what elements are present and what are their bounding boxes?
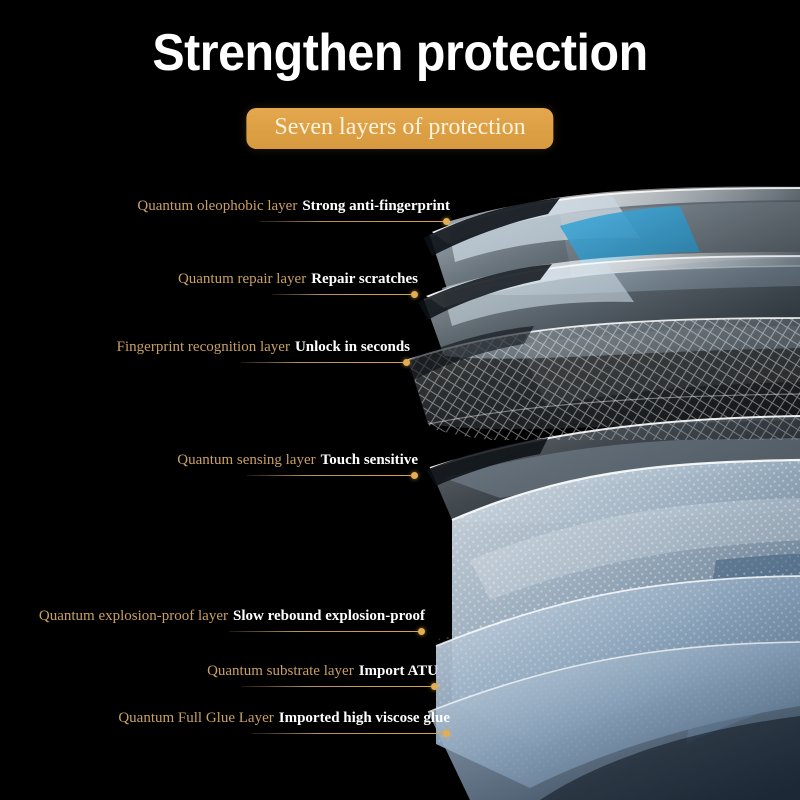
callout-text: Quantum repair layerRepair scratches bbox=[178, 271, 418, 287]
layer-description: Repair scratches bbox=[311, 271, 418, 287]
callout-dot bbox=[418, 628, 425, 635]
callout-text: Quantum oleophobic layerStrong anti-fing… bbox=[137, 198, 450, 214]
callout-leader-line bbox=[117, 358, 410, 367]
callout-leader-line bbox=[177, 471, 418, 480]
layer-description: Imported high viscose glue bbox=[279, 710, 450, 726]
layer-4-sensing-sheet bbox=[426, 416, 800, 524]
callout-dot bbox=[443, 218, 450, 225]
callout-quantum-repair-layer[interactable]: Quantum repair layerRepair scratches bbox=[178, 271, 418, 299]
callout-leader-line bbox=[118, 729, 450, 738]
layer-name: Quantum explosion-proof layer bbox=[39, 608, 228, 624]
layer-description: Slow rebound explosion-proof bbox=[233, 608, 425, 624]
callout-quantum-explosion-proof-layer[interactable]: Quantum explosion-proof layerSlow reboun… bbox=[39, 608, 425, 636]
layer-2-repair-sheet bbox=[418, 252, 800, 359]
layer-name: Fingerprint recognition layer bbox=[117, 339, 290, 355]
layer-1-oleophobic-sheet bbox=[424, 186, 800, 295]
callout-text: Quantum explosion-proof layerSlow reboun… bbox=[39, 608, 425, 624]
subtitle-badge: Seven layers of protection bbox=[246, 108, 553, 149]
callout-dot bbox=[431, 683, 438, 690]
callout-dot bbox=[403, 359, 410, 366]
callout-leader-line bbox=[207, 682, 438, 691]
callout-text: Quantum substrate layerImport ATU bbox=[207, 663, 438, 679]
layer-name: Quantum sensing layer bbox=[177, 452, 315, 468]
layer-name: Quantum Full Glue Layer bbox=[118, 710, 273, 726]
callout-quantum-substrate-layer[interactable]: Quantum substrate layerImport ATU bbox=[207, 663, 438, 691]
callout-leader-line bbox=[39, 627, 425, 636]
callout-fingerprint-recognition-layer[interactable]: Fingerprint recognition layerUnlock in s… bbox=[117, 339, 410, 367]
layer-5-explosion-proof-sheet bbox=[440, 450, 800, 760]
layer-name: Quantum repair layer bbox=[178, 271, 306, 287]
layer-description: Strong anti-fingerprint bbox=[302, 198, 450, 214]
callout-leader-line bbox=[178, 290, 418, 299]
callout-dot bbox=[411, 472, 418, 479]
layer-description: Touch sensitive bbox=[321, 452, 418, 468]
callout-quantum-full-glue-layer[interactable]: Quantum Full Glue LayerImported high vis… bbox=[118, 710, 450, 738]
product-infographic: Strengthen protection Seven layers of pr… bbox=[0, 0, 800, 800]
layer-description: Unlock in seconds bbox=[295, 339, 410, 355]
callout-leader-line bbox=[137, 217, 450, 226]
callout-text: Quantum Full Glue LayerImported high vis… bbox=[118, 710, 450, 726]
callout-text: Quantum sensing layerTouch sensitive bbox=[177, 452, 418, 468]
callout-quantum-oleophobic-layer[interactable]: Quantum oleophobic layerStrong anti-fing… bbox=[137, 198, 450, 226]
callout-text: Fingerprint recognition layerUnlock in s… bbox=[117, 339, 410, 355]
page-title: Strengthen protection bbox=[28, 26, 772, 81]
callout-quantum-sensing-layer[interactable]: Quantum sensing layerTouch sensitive bbox=[177, 452, 418, 480]
upper-overlay-panes bbox=[520, 202, 800, 406]
layer-description: Import ATU bbox=[359, 663, 438, 679]
callout-dot bbox=[411, 291, 418, 298]
layer-name: Quantum oleophobic layer bbox=[137, 198, 297, 214]
layer-3-fingerprint-mesh-sheet bbox=[400, 310, 800, 440]
layer-6-substrate-sheet bbox=[430, 560, 800, 800]
callout-dot bbox=[443, 730, 450, 737]
layer-7-full-glue-sheet bbox=[428, 642, 800, 800]
layer-name: Quantum substrate layer bbox=[207, 663, 354, 679]
